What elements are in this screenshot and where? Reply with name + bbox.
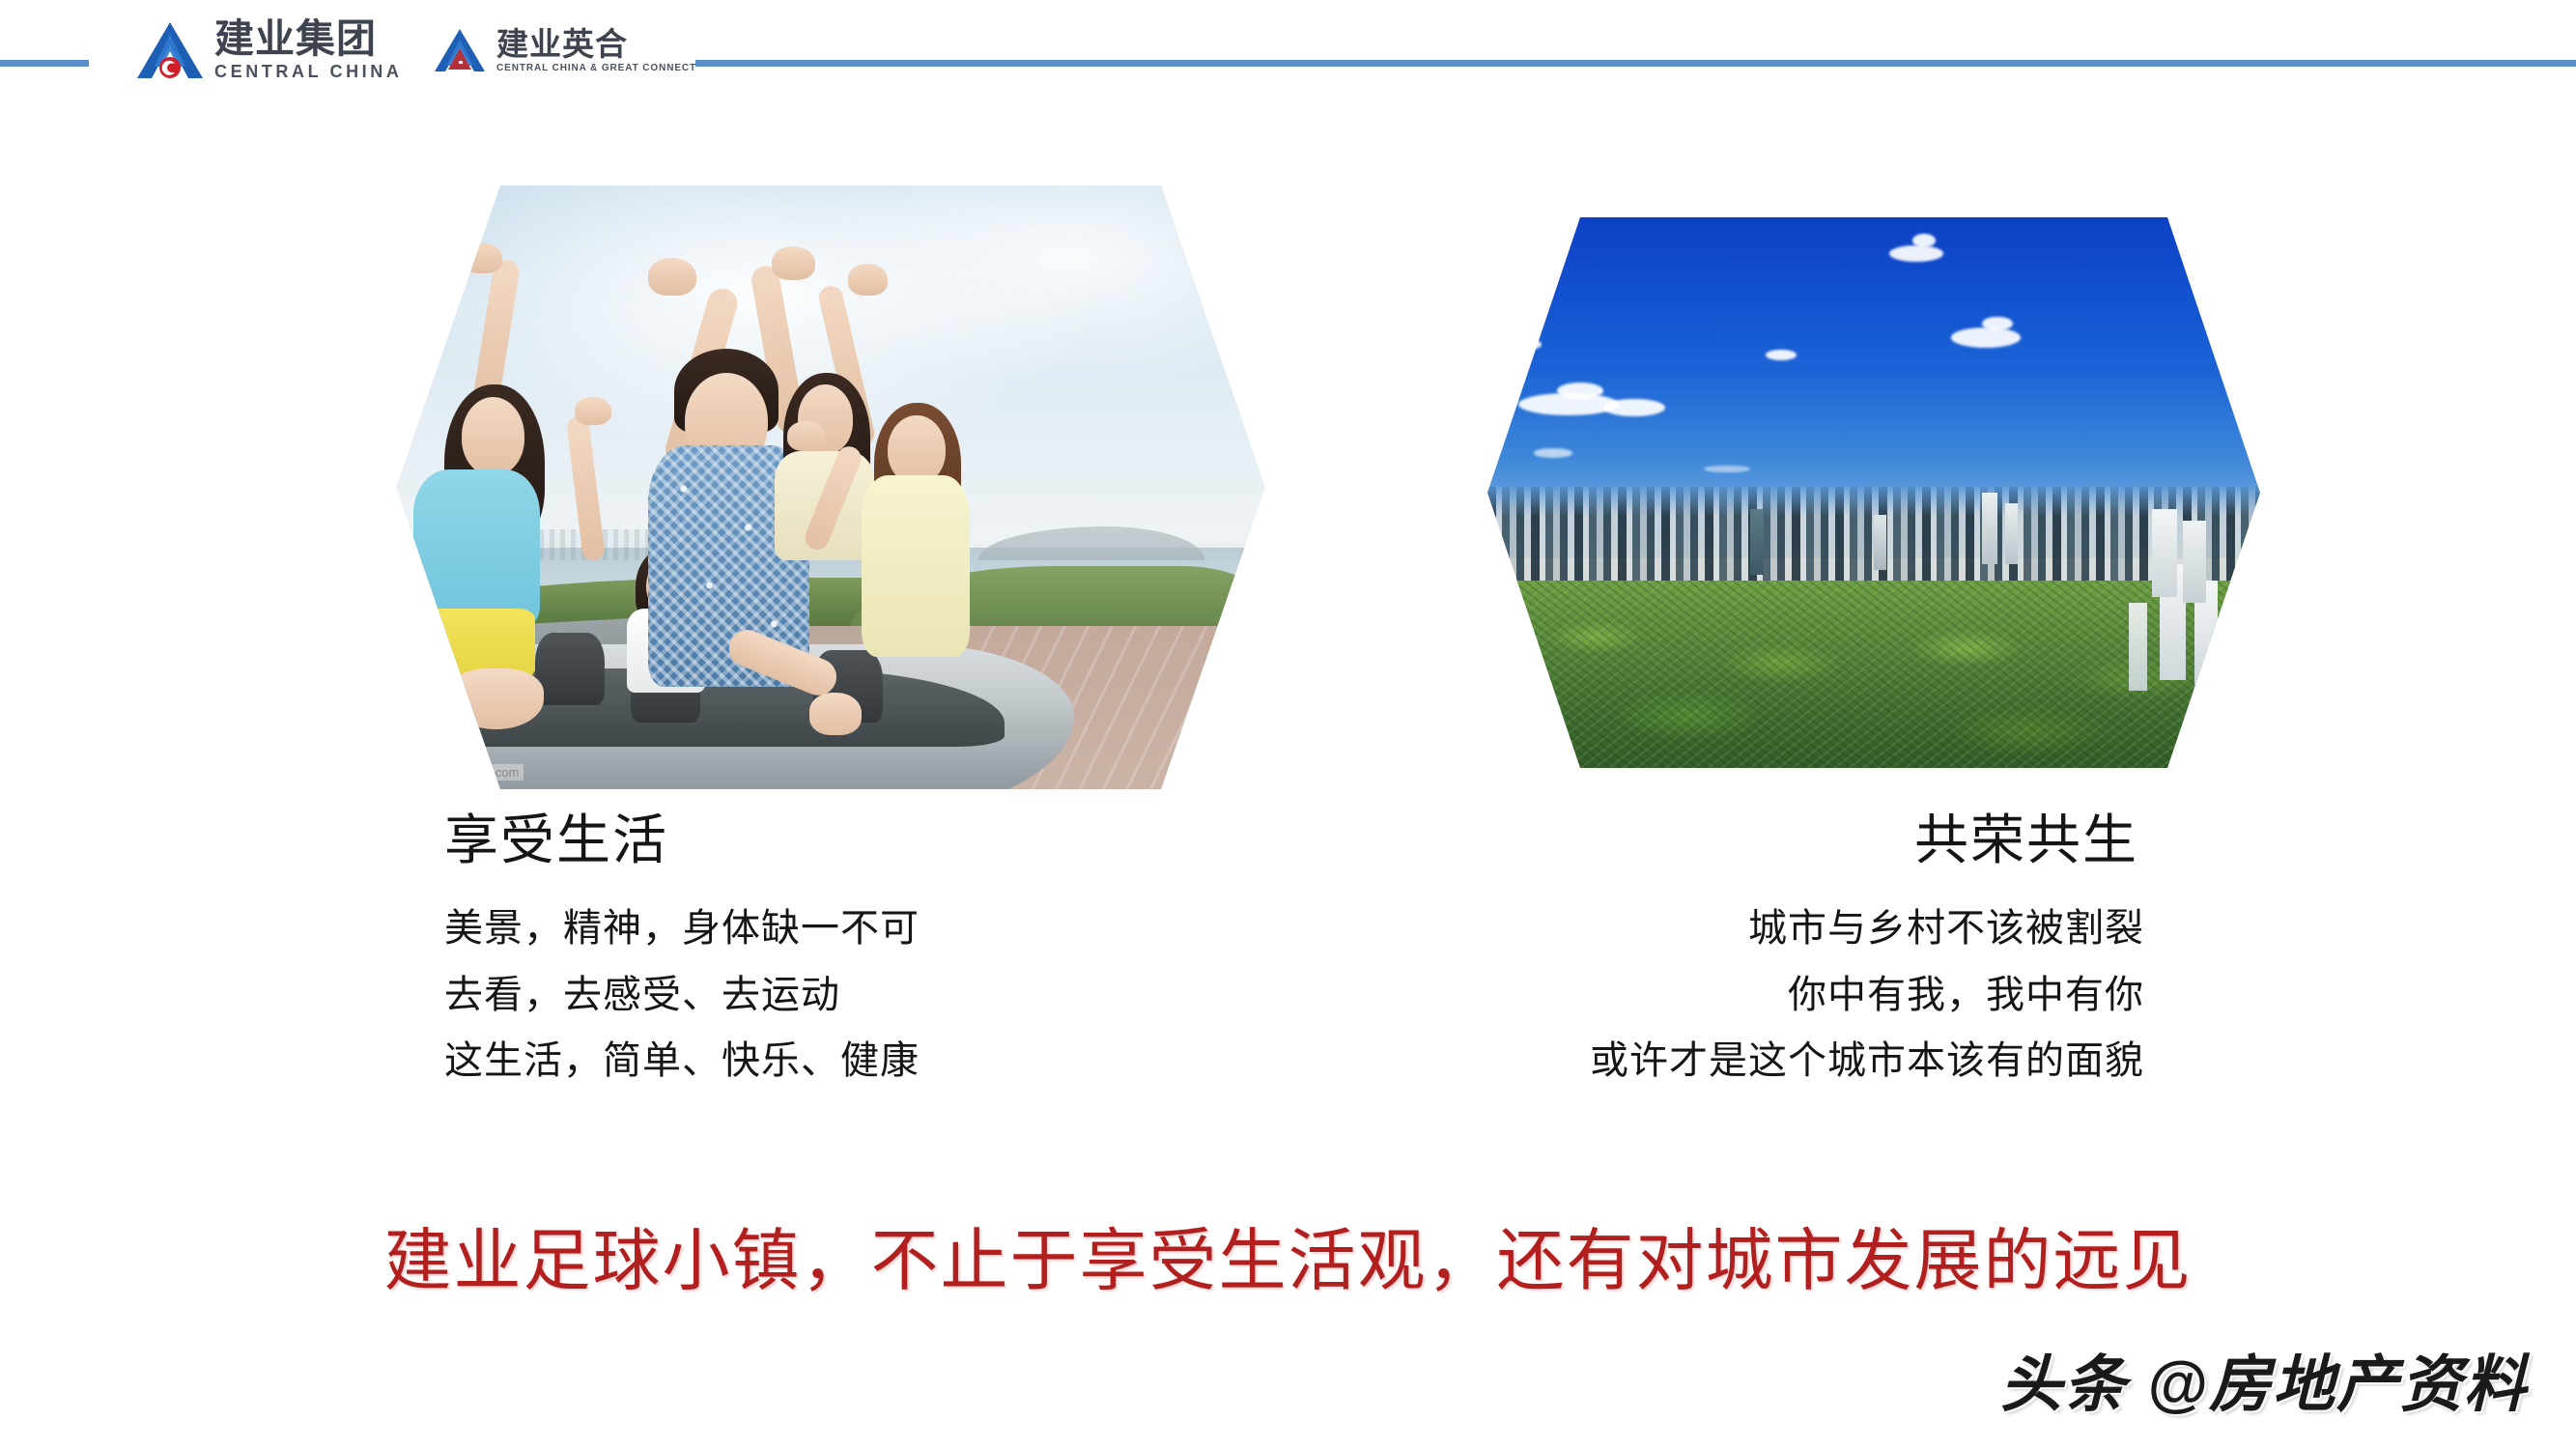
woman-right-dress [862, 475, 971, 657]
logo-2-cn: 建业英合 [496, 28, 696, 60]
person-top [413, 469, 540, 627]
man-hand-left [648, 258, 696, 296]
tower [2005, 503, 2018, 564]
logo-central-china-group[interactable]: 建业集团 CENTRAL CHINA [135, 19, 402, 80]
photo-credit: www.eriguo.com [422, 764, 524, 781]
watermark: 头条 @房地产资料 [2000, 1335, 2528, 1424]
header-rule-right [695, 60, 2576, 67]
child-hand [575, 397, 611, 425]
person-hand [462, 242, 501, 272]
caption-title: 共荣共生 [1391, 811, 2144, 872]
woman-right-hand [787, 421, 826, 451]
logo-1-cn: 建业集团 [214, 19, 402, 59]
caption-enjoy-life: 享受生活 美景，精神，身体缺一不可 去看，去感受、去运动 这生活，简单、快乐、健… [348, 811, 1140, 1094]
cloud [1534, 448, 1572, 457]
cloud [1889, 245, 1943, 262]
scene-city-skyline [1487, 217, 2260, 768]
cloud [1912, 234, 1936, 247]
caption-line: 城市与乡村不该被割裂 [1391, 895, 2144, 962]
great-connect-triangle-icon [433, 27, 487, 73]
car-headrest [535, 633, 605, 705]
tower [1874, 515, 1886, 570]
slide-header: 建业集团 CENTRAL CHINA 建业英合 CENTRAL CHINA & … [0, 0, 2576, 106]
residential-tower [2183, 521, 2206, 604]
residential-tower [2129, 603, 2147, 691]
cloud [1503, 338, 1542, 351]
cloud [1557, 383, 1603, 399]
caption-title: 享受生活 [444, 811, 1140, 872]
person-head [462, 397, 524, 475]
logo-1-words: 建业集团 CENTRAL CHINA [214, 19, 402, 80]
caption-line: 这生活，简单、快乐、健康 [444, 1028, 1140, 1094]
slide-root: 建业集团 CENTRAL CHINA 建业英合 CENTRAL CHINA & … [0, 0, 2576, 1449]
woman-right-head [888, 415, 945, 485]
person-legs [448, 668, 544, 729]
logo-central-china-great-connect[interactable]: 建业英合 CENTRAL CHINA & GREAT CONNECT [433, 27, 696, 73]
caption-shared-prosperity: 共荣共生 城市与乡村不该被割裂 你中有我，我中有你 或许才是这个城市本该有的面貌 [1391, 811, 2183, 1094]
caption-line: 或许才是这个城市本该有的面貌 [1391, 1028, 2144, 1094]
hex-image-enjoy-life: www.eriguo.com [396, 185, 1265, 789]
man-hand-extended [809, 693, 862, 735]
logo-1-en: CENTRAL CHINA [214, 63, 402, 80]
scene-convertible-seaside: www.eriguo.com [396, 185, 1265, 789]
hex-image-city-forest [1487, 217, 2260, 768]
logo-2-words: 建业英合 CENTRAL CHINA & GREAT CONNECT [496, 28, 696, 73]
central-china-triangle-icon [135, 20, 205, 80]
slide-headline: 建业足球小镇，不止于享受生活观，还有对城市发展的远见 [0, 1225, 2576, 1299]
caption-line: 去看，去感受、去运动 [444, 962, 1140, 1029]
tower [1750, 509, 1764, 575]
cloud [1951, 327, 2021, 348]
header-rule-left [0, 60, 89, 67]
logo-2-en: CENTRAL CHINA & GREAT CONNECT [496, 64, 696, 73]
woman-back-hand [848, 264, 888, 296]
man-hand-right [772, 246, 815, 280]
residential-tower [2152, 509, 2177, 597]
cloud [1766, 350, 1797, 360]
tower [1982, 493, 1997, 564]
caption-line: 美景，精神，身体缺一不可 [444, 895, 1140, 962]
caption-line: 你中有我，我中有你 [1391, 962, 2144, 1029]
